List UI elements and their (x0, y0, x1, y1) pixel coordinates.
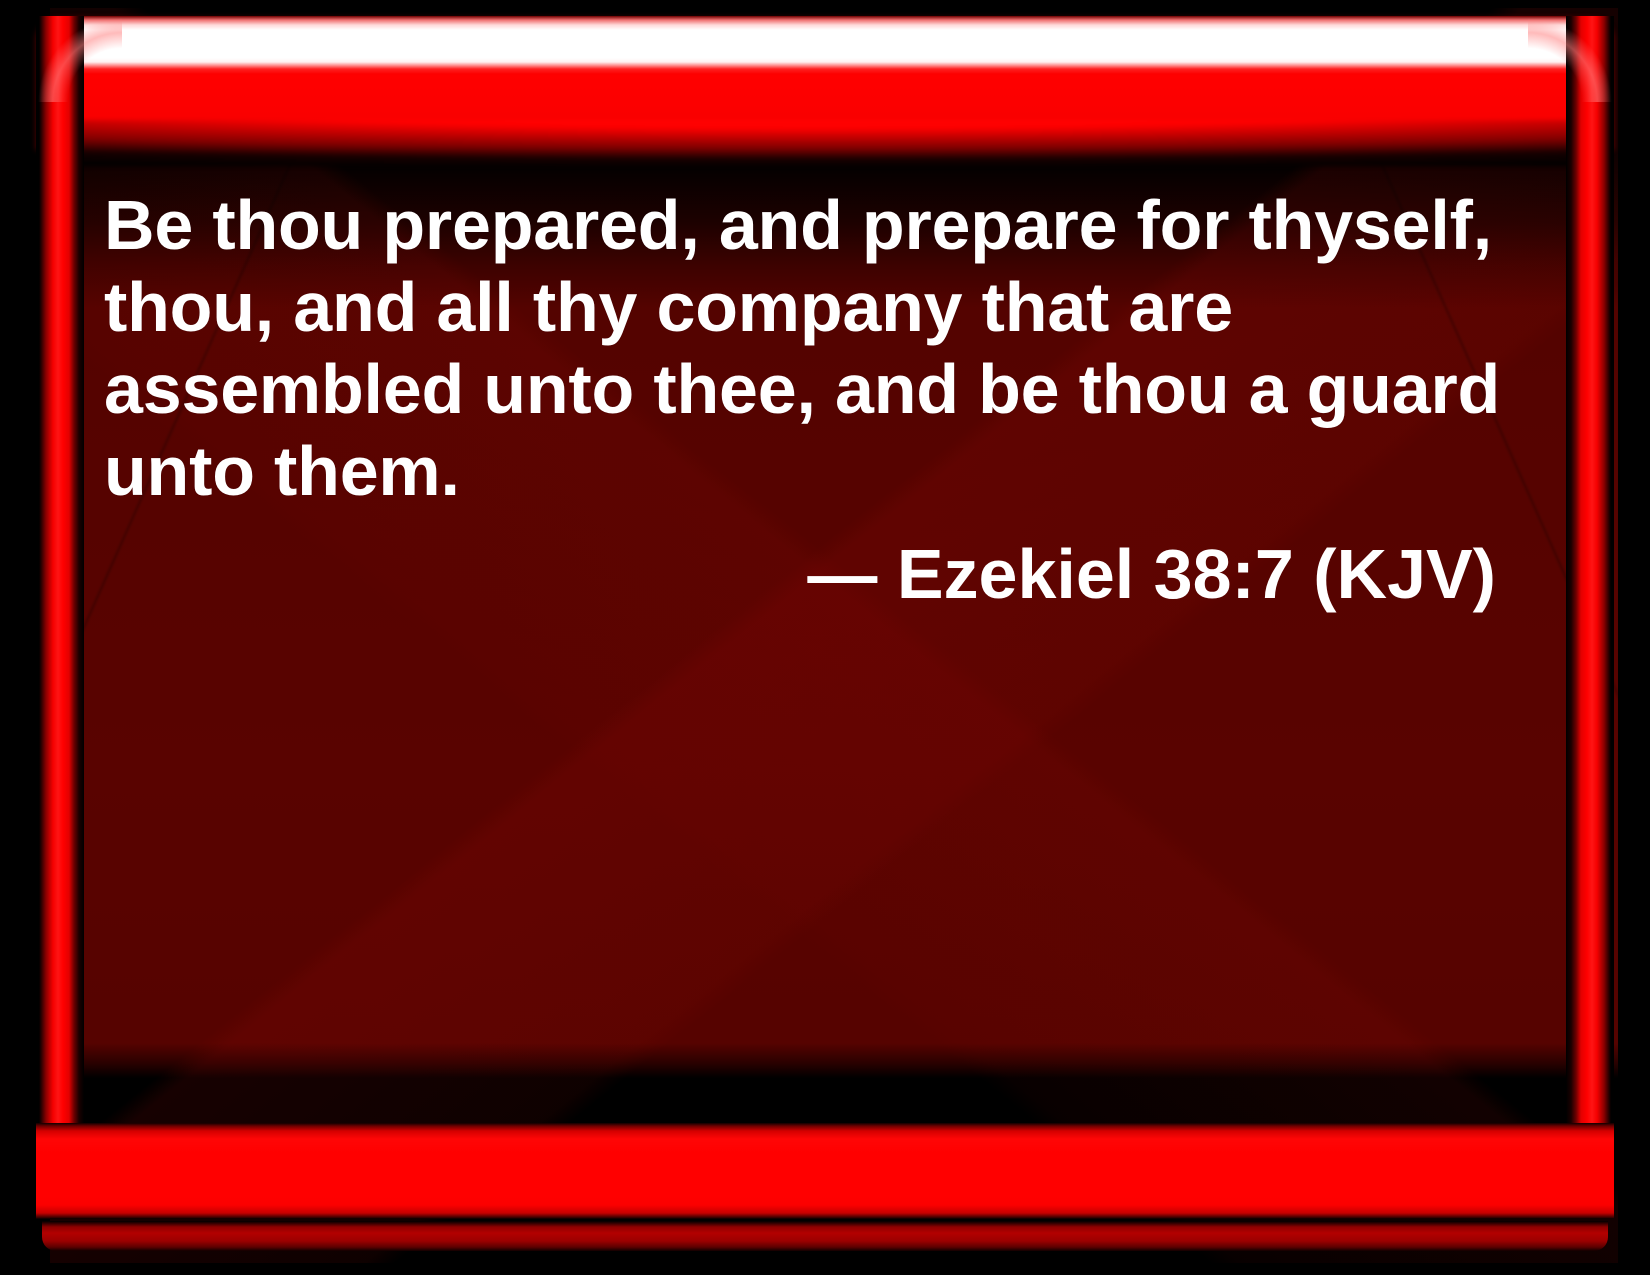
bottom-glossy-red-bar (36, 1123, 1614, 1219)
right-glossy-red-rail (1566, 16, 1614, 1219)
top-bar-shadow-skirt (58, 120, 1592, 166)
verse-quote-block: Be thou prepared, and prepare for thysel… (104, 184, 1504, 614)
verse-attribution: — Ezekiel 38:7 (KJV) (104, 534, 1504, 614)
verse-text: Be thou prepared, and prepare for thysel… (104, 184, 1504, 512)
verse-slide: Be thou prepared, and prepare for thysel… (0, 0, 1650, 1275)
left-glossy-red-rail (36, 16, 84, 1219)
slide-inner-panel: Be thou prepared, and prepare for thysel… (18, 8, 1632, 1263)
bottom-dark-red-plinth (42, 1221, 1608, 1251)
